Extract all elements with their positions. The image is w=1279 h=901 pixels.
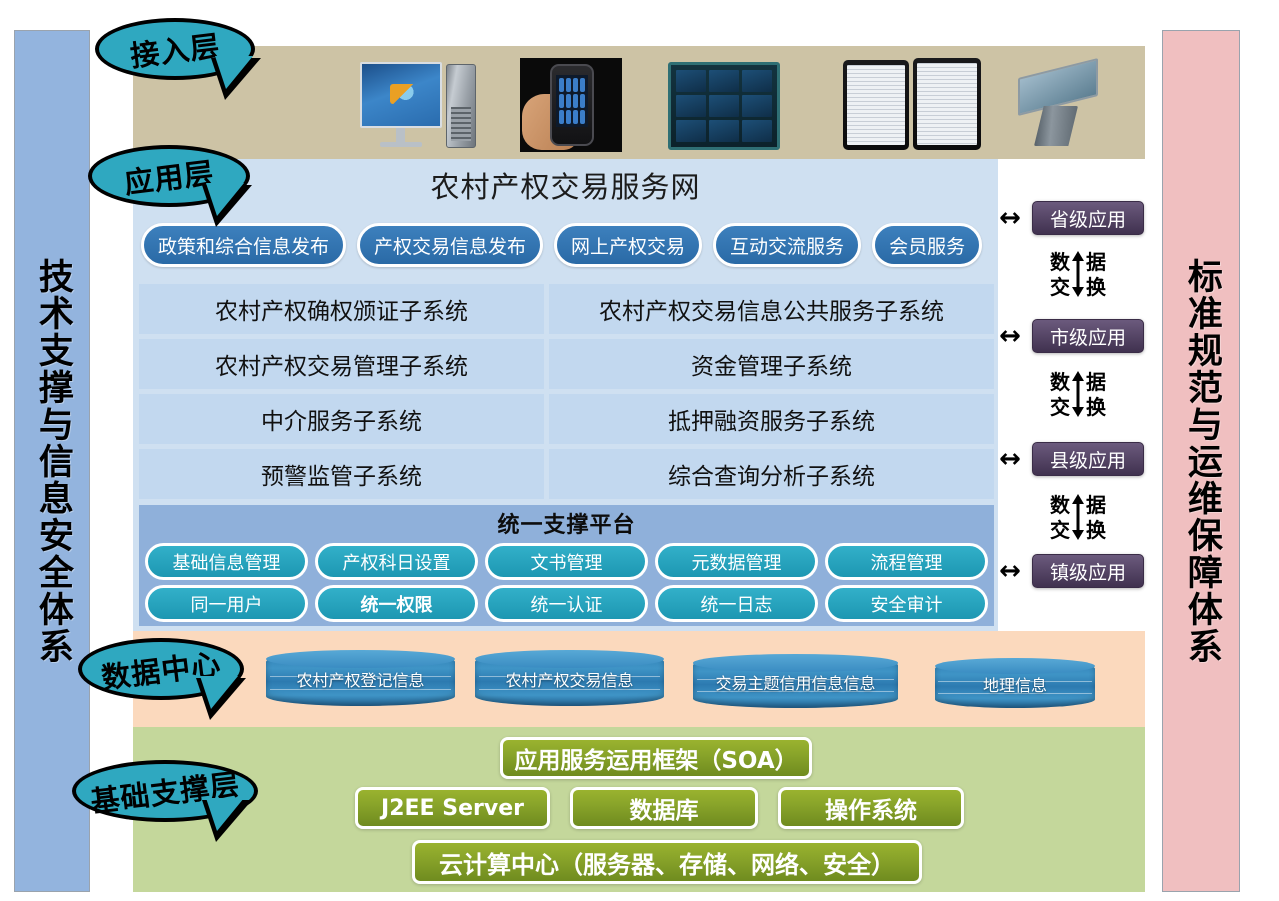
data-exchange-county-town: 数 据 交 换: [1028, 492, 1128, 542]
subsystem-cell[interactable]: 农村产权交易管理子系统: [139, 339, 544, 389]
arrow-to-county: ↔: [993, 448, 1027, 470]
subsystem-row: 农村产权交易管理子系统 资金管理子系统: [139, 339, 994, 389]
smart-tv-icon: [668, 62, 780, 150]
bidirectional-arrow-icon: ↔: [999, 205, 1021, 231]
platform-pill-basic-info[interactable]: 基础信息管理: [145, 543, 308, 580]
app-pill-member-service[interactable]: 会员服务: [872, 223, 982, 267]
subsystem-cell[interactable]: 中介服务子系统: [139, 394, 544, 444]
platform-pill-unified-auth[interactable]: 统一认证: [485, 585, 648, 622]
subsystem-cell[interactable]: 资金管理子系统: [549, 339, 994, 389]
kiosk-terminal-icon: [1012, 62, 1104, 150]
callout-access-layer: 接入层: [95, 18, 255, 80]
desktop-computer-icon: [360, 62, 480, 150]
left-sidebar-label: 技术支撑与信息安全体系: [34, 258, 70, 665]
application-service-pills: 政策和综合信息发布 产权交易信息发布 网上产权交易 互动交流服务 会员服务: [141, 219, 993, 271]
exchange-char: 数: [1028, 372, 1070, 392]
subsystem-cell[interactable]: 综合查询分析子系统: [549, 449, 994, 499]
subsystem-row: 预警监管子系统 综合查询分析子系统: [139, 449, 994, 499]
platform-pill-document-mgmt[interactable]: 文书管理: [485, 543, 648, 580]
exchange-char: 数: [1028, 495, 1070, 515]
platform-pill-unified-permission[interactable]: 统一权限: [315, 585, 478, 622]
windows-logo-icon: [390, 84, 416, 104]
exchange-char: 据: [1086, 372, 1128, 392]
infra-box-operating-system[interactable]: 操作系统: [778, 787, 964, 829]
right-sidebar-standards: 标准规范与运维保障体系: [1162, 30, 1240, 892]
platform-title: 统一支撑平台: [139, 507, 994, 539]
platform-row-1: 基础信息管理 产权科日设置 文书管理 元数据管理 流程管理: [139, 543, 994, 580]
infra-box-cloud-center[interactable]: 云计算中心（服务器、存储、网络、安全）: [412, 840, 922, 884]
subsystem-grid: 农村产权确权颁证子系统 农村产权交易信息公共服务子系统 农村产权交易管理子系统 …: [139, 284, 994, 499]
exchange-char: 交: [1028, 277, 1070, 297]
database-transaction-info[interactable]: 农村产权交易信息: [475, 652, 664, 706]
subsystem-cell[interactable]: 农村产权交易信息公共服务子系统: [549, 284, 994, 334]
database-label: 农村产权登记信息: [266, 652, 455, 706]
platform-pill-property-subject[interactable]: 产权科日设置: [315, 543, 478, 580]
database-label: 交易主题信用信息信息: [693, 656, 898, 708]
database-label: 地理信息: [935, 660, 1095, 708]
platform-pill-process-mgmt[interactable]: 流程管理: [825, 543, 988, 580]
database-geographic-info[interactable]: 地理信息: [935, 660, 1095, 708]
infra-box-j2ee-server[interactable]: J2EE Server: [355, 787, 550, 829]
platform-row-2: 同一用户 统一权限 统一认证 统一日志 安全审计: [139, 585, 994, 622]
callout-label: 接入层: [128, 23, 222, 76]
vertical-double-arrow-icon: [1070, 251, 1086, 297]
arrow-to-province: ↔: [993, 207, 1027, 229]
data-exchange-city-county: 数 据 交 换: [1028, 369, 1128, 419]
data-exchange-province-city: 数 据 交 换: [1028, 249, 1128, 299]
platform-pill-metadata-mgmt[interactable]: 元数据管理: [655, 543, 818, 580]
bidirectional-arrow-icon: ↔: [999, 558, 1021, 584]
database-label: 农村产权交易信息: [475, 652, 664, 706]
exchange-char: 数: [1028, 252, 1070, 272]
level-box-county[interactable]: 县级应用: [1032, 442, 1144, 476]
smartphone-in-hand-icon: [520, 58, 622, 152]
subsystem-cell[interactable]: 农村产权确权颁证子系统: [139, 284, 544, 334]
vertical-double-arrow-icon: [1070, 371, 1086, 417]
app-pill-interactive-service[interactable]: 互动交流服务: [713, 223, 861, 267]
exchange-char: 据: [1086, 495, 1128, 515]
platform-pill-same-user[interactable]: 同一用户: [145, 585, 308, 622]
level-box-town[interactable]: 镇级应用: [1032, 554, 1144, 588]
level-box-city[interactable]: 市级应用: [1032, 319, 1144, 353]
page-title: 农村产权交易服务网: [133, 162, 998, 208]
right-sidebar-label: 标准规范与运维保障体系: [1183, 258, 1219, 665]
exchange-char: 交: [1028, 520, 1070, 540]
platform-pill-unified-log[interactable]: 统一日志: [655, 585, 818, 622]
exchange-char: 据: [1086, 252, 1128, 272]
exchange-char: 交: [1028, 397, 1070, 417]
unified-support-platform: 统一支撑平台 基础信息管理 产权科日设置 文书管理 元数据管理 流程管理 同一用…: [139, 505, 994, 626]
infra-box-soa-framework[interactable]: 应用服务运用框架（SOA）: [500, 737, 812, 779]
app-pill-policy-info[interactable]: 政策和综合信息发布: [141, 223, 346, 267]
platform-pill-security-audit[interactable]: 安全审计: [825, 585, 988, 622]
app-pill-online-trade[interactable]: 网上产权交易: [554, 223, 702, 267]
exchange-char: 换: [1086, 520, 1128, 540]
subsystem-row: 中介服务子系统 抵押融资服务子系统: [139, 394, 994, 444]
architecture-diagram: 技术支撑与信息安全体系 标准规范与运维保障体系: [0, 0, 1279, 901]
tablet-devices-icon: [843, 58, 983, 152]
subsystem-cell[interactable]: 抵押融资服务子系统: [549, 394, 994, 444]
database-registration-info[interactable]: 农村产权登记信息: [266, 652, 455, 706]
callout-application-layer: 应用层: [88, 145, 250, 207]
infra-box-database[interactable]: 数据库: [570, 787, 758, 829]
bidirectional-arrow-icon: ↔: [999, 446, 1021, 472]
arrow-to-city: ↔: [993, 325, 1027, 347]
app-pill-trade-info[interactable]: 产权交易信息发布: [357, 223, 543, 267]
bidirectional-arrow-icon: ↔: [999, 323, 1021, 349]
callout-infrastructure-layer: 基础支撑层: [72, 760, 258, 822]
exchange-char: 换: [1086, 277, 1128, 297]
database-credit-info[interactable]: 交易主题信用信息信息: [693, 656, 898, 708]
level-box-province[interactable]: 省级应用: [1032, 201, 1144, 235]
access-layer-band: [133, 46, 1145, 159]
subsystem-row: 农村产权确权颁证子系统 农村产权交易信息公共服务子系统: [139, 284, 994, 334]
vertical-double-arrow-icon: [1070, 494, 1086, 540]
subsystem-cell[interactable]: 预警监管子系统: [139, 449, 544, 499]
arrow-to-town: ↔: [993, 560, 1027, 582]
callout-data-center: 数据中心: [78, 638, 244, 700]
exchange-char: 换: [1086, 397, 1128, 417]
